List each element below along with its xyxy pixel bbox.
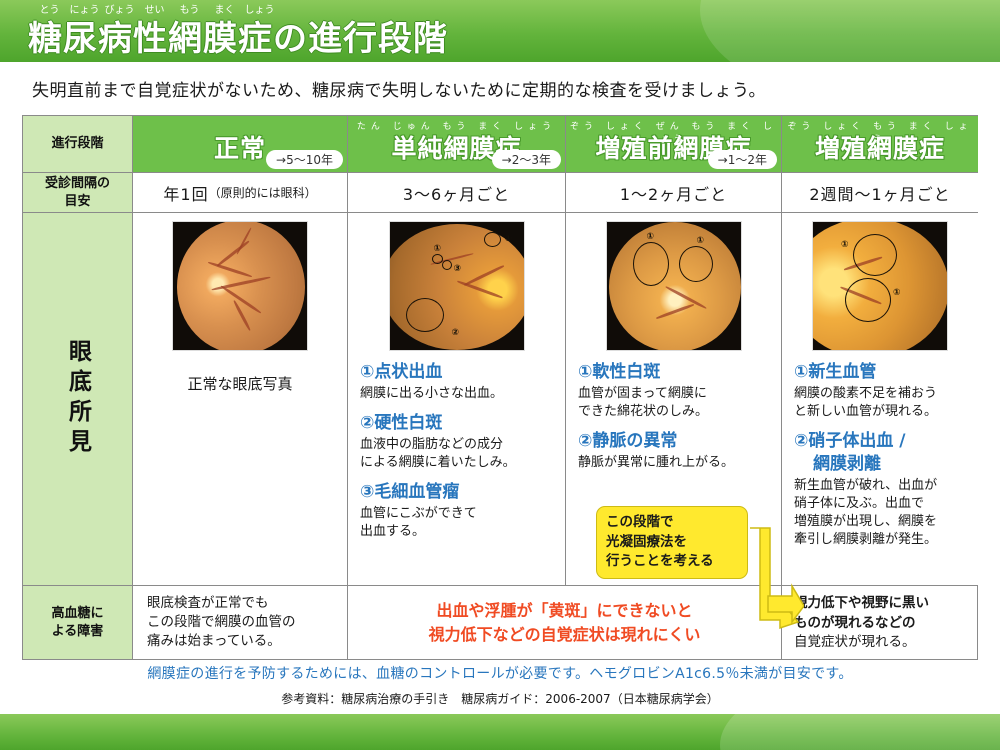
row-label-damage-line1: 高血糖に	[51, 605, 103, 623]
finding-desc: 血管が固まって網膜にできた綿花状のしみ。	[578, 385, 771, 421]
header-band: とうにょうびょうせいもうまくしょう 糖尿病性網膜症の進行段階	[0, 0, 1000, 64]
finding-desc: 網膜に出る小さな出血。	[360, 385, 555, 403]
damage-proliferative-text: 視力低下や視野に黒い ものが現れるなどの 自覚症状が現れる。	[782, 586, 978, 653]
finding-title: ①新生血管	[794, 361, 968, 384]
row-label-stage: 進行段階	[23, 116, 133, 173]
finding-desc: 静脈が異常に腫れ上がる。	[578, 454, 771, 472]
finding-desc: 血液中の脂肪などの成分による網膜に着いたしみ。	[360, 436, 555, 472]
interval-normal-main: 年1回	[163, 181, 208, 205]
page-title: 糖尿病性網膜症の進行段階	[28, 17, 448, 61]
callout-arrow-icon	[748, 524, 804, 634]
findings-proliferative: ① ① ①新生血管 網膜の酸素不足を補おうと新しい血管が現れる。 ②硝子体出血 …	[782, 213, 978, 586]
furigana-syllable: せい	[137, 4, 172, 17]
damage-red-line: 視力低下などの自覚症状は現れにくい	[429, 623, 701, 647]
callout-line: 行うことを考える	[606, 552, 738, 572]
row-label-interval-line1: 受診間隔の	[45, 175, 110, 193]
arrow-pill-preproliferative: →1〜2年	[708, 150, 777, 169]
interval-normal: 年1回 （原則的には眼科）	[133, 173, 348, 213]
interval-preproliferative: 1〜2ヶ月ごと	[566, 173, 782, 213]
row-label-findings: 眼底所見	[23, 213, 133, 586]
progression-table: 進行段階 正常 →5〜10年 たん じゅん もう まく しょう 単純網膜症 →2…	[22, 115, 978, 660]
furigana-syllable: とう	[32, 4, 67, 17]
row-label-findings-text: 眼底所見	[61, 339, 95, 459]
findings-normal: 正常な眼底写真	[133, 213, 348, 586]
furigana-syllable: もう	[172, 4, 207, 17]
fundus-photo-normal-icon	[172, 221, 308, 351]
finding-desc: 血管にこぶができて出血する。	[360, 505, 555, 541]
damage-line: 視力低下や視野に黒い	[794, 595, 929, 611]
stage-header-preproliferative: ぞう しょく ぜん もう まく しょう 増殖前網膜症 →1〜2年	[566, 116, 782, 173]
finding-title-part1: ②硝子体出血 /	[794, 431, 906, 451]
photo-caption-normal: 正常な眼底写真	[133, 373, 347, 394]
callout-line: この段階で	[606, 513, 738, 533]
findings-list-preproliferative: ①軟性白斑 血管が固まって網膜にできた綿花状のしみ。 ②静脈の異常 静脈が異常に…	[566, 351, 781, 472]
damage-merged-red-text: 出血や浮腫が「黄斑」にできないと 視力低下などの自覚症状は現れにくい	[348, 586, 781, 659]
treatment-callout: この段階で 光凝固療法を 行うことを考える	[596, 506, 748, 579]
finding-title: ②静脈の異常	[578, 430, 771, 453]
fundus-photo-proliferative-icon: ① ①	[812, 221, 948, 351]
damage-normal-text: 眼底検査が正常でも この段階で網膜の血管の 痛みは始まっている。	[133, 586, 347, 651]
title-wrap: とうにょうびょうせいもうまくしょう 糖尿病性網膜症の進行段階	[28, 4, 448, 61]
damage-line: 自覚症状が現れる。	[794, 633, 972, 653]
row-label-damage: 高血糖に よる障害	[23, 586, 133, 659]
finding-title: ①点状出血	[360, 361, 555, 384]
title-furigana: とうにょうびょうせいもうまくしょう	[28, 4, 448, 17]
damage-line: ものが現れるなどの	[794, 615, 916, 631]
damage-line: 痛みは始まっている。	[147, 632, 341, 651]
subtitle: 失明直前まで自覚症状がないため、糖尿病で失明しないために定期的な検査を受けましょ…	[32, 76, 766, 101]
stage-furigana-preproliferative: ぞう しょく ぜん もう まく しょう	[566, 119, 781, 145]
findings-list-simple: ①点状出血 網膜に出る小さな出血。 ②硬性白斑 血液中の脂肪などの成分による網膜…	[348, 351, 565, 541]
fundus-photo-normal-wrap	[133, 221, 347, 351]
damage-normal: 眼底検査が正常でも この段階で網膜の血管の 痛みは始まっている。	[133, 586, 348, 659]
finding-title: ②硝子体出血 / 網膜剥離	[794, 430, 968, 476]
stage-header-normal: 正常 →5〜10年	[133, 116, 348, 173]
furigana-syllable: まく	[207, 4, 242, 17]
stage-header-simple: たん じゅん もう まく しょう 単純網膜症 →2〜3年	[348, 116, 566, 173]
fundus-photo-preproliferative-icon: ① ①	[606, 221, 742, 351]
damage-red-line: 出血や浮腫が「黄斑」にできないと	[429, 599, 701, 623]
footer-reference: 参考資料：糖尿病治療の手引き 糖尿病ガイド：2006-2007（日本糖尿病学会）	[0, 690, 1000, 707]
findings-simple: ① ① ③ ② ①点状出血 網膜に出る小さな出血。 ②硬性白斑 血液中の脂肪など…	[348, 213, 566, 586]
arrow-pill-simple: →2〜3年	[492, 150, 561, 169]
damage-line: この段階で網膜の血管の	[147, 613, 341, 632]
row-label-damage-line2: よる障害	[51, 623, 103, 641]
finding-title: ③毛細血管瘤	[360, 481, 555, 504]
stage-name-normal: 正常	[214, 129, 266, 165]
stage-header-proliferative: ぞう しょく もう まく しょう 増殖網膜症	[782, 116, 978, 173]
furigana-syllable: にょう	[67, 4, 102, 17]
finding-title-part2: 網膜剥離	[794, 453, 968, 476]
interval-simple: 3〜6ヶ月ごと	[348, 173, 566, 213]
fundus-photo-proliferative-wrap: ① ①	[782, 221, 978, 351]
furigana-syllable: しょう	[242, 4, 277, 17]
furigana-syllable: びょう	[102, 4, 137, 17]
fundus-photo-simple-icon: ① ① ③ ②	[389, 221, 525, 351]
fundus-photo-preproliferative-wrap: ① ①	[566, 221, 781, 351]
footer-note: 網膜症の進行を予防するためには、血糖のコントロールが必要です。ヘモグロビンA1c…	[0, 663, 1000, 683]
findings-list-proliferative: ①新生血管 網膜の酸素不足を補おうと新しい血管が現れる。 ②硝子体出血 / 網膜…	[782, 351, 978, 548]
fundus-photo-simple-wrap: ① ① ③ ②	[348, 221, 565, 351]
footer-band	[0, 714, 1000, 750]
damage-line: 眼底検査が正常でも	[147, 594, 341, 613]
stage-furigana-simple: たん じゅん もう まく しょう	[348, 119, 565, 132]
callout-line: 光凝固療法を	[606, 533, 738, 553]
row-label-interval-line2: 目安	[45, 193, 110, 211]
finding-title: ②硬性白斑	[360, 412, 555, 435]
stage-furigana-proliferative: ぞう しょく もう まく しょう	[782, 119, 978, 145]
damage-proliferative: 視力低下や視野に黒い ものが現れるなどの 自覚症状が現れる。	[782, 586, 978, 659]
finding-title: ①軟性白斑	[578, 361, 771, 384]
interval-proliferative: 2週間〜1ヶ月ごと	[782, 173, 978, 213]
row-label-interval: 受診間隔の 目安	[23, 173, 133, 213]
damage-merged-red: 出血や浮腫が「黄斑」にできないと 視力低下などの自覚症状は現れにくい	[348, 586, 782, 659]
arrow-pill-normal: →5〜10年	[266, 150, 343, 169]
finding-desc: 網膜の酸素不足を補おうと新しい血管が現れる。	[794, 385, 968, 421]
interval-normal-sub: （原則的には眼科）	[209, 184, 317, 201]
finding-desc: 新生血管が破れ、出血が硝子体に及ぶ。出血で増殖膜が出現し、網膜を牽引し網膜剥離が…	[794, 477, 968, 549]
